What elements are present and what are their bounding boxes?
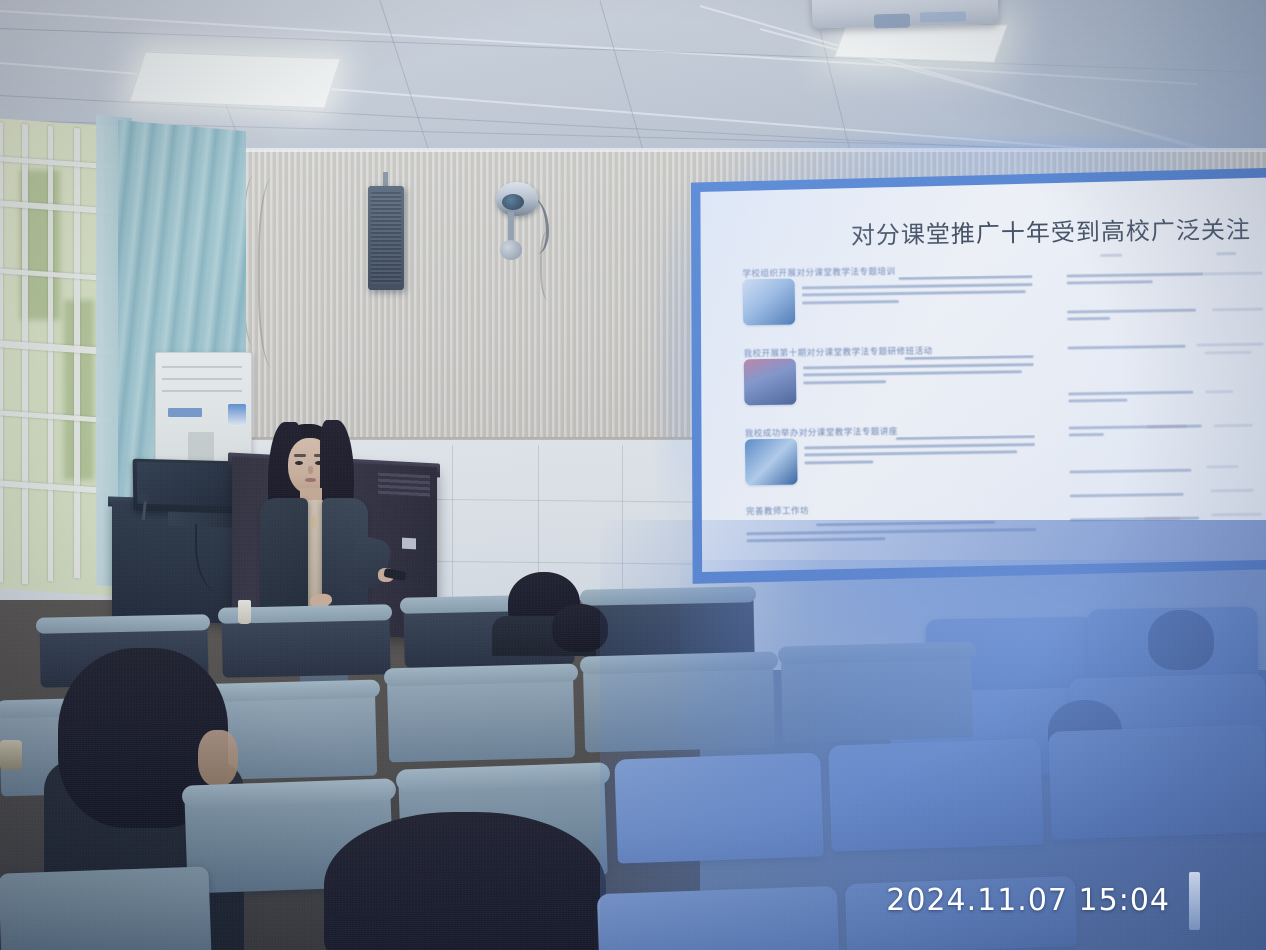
speaker-grille-icon	[371, 192, 401, 284]
camera-timestamp: 2024.11.07 15:04	[886, 883, 1170, 918]
ac-louver	[162, 378, 242, 380]
presenter-eye	[295, 461, 303, 465]
camera-mount-joint	[500, 240, 522, 260]
chair-post	[1189, 872, 1200, 930]
ceiling-led-panel	[129, 52, 341, 109]
seat-row-front[interactable]	[0, 866, 212, 950]
presenter-mouth	[305, 478, 316, 482]
presenter-brow	[294, 454, 306, 457]
thermos-cup	[0, 740, 22, 770]
slide-list-item	[1067, 308, 1263, 314]
slide-surface: 对分课堂推广十年受到高校广泛关注 学校组织开展对分课堂教学法专题培训 我校开展第…	[697, 176, 1266, 576]
slide-news-item: 我校成功举办对分课堂教学法专题讲座	[745, 423, 1036, 485]
presenter-nose	[308, 466, 313, 474]
slide-title: 对分课堂推广十年受到高校广泛关注	[851, 210, 1251, 251]
slide-list-header	[1066, 252, 1252, 258]
camera-lens-icon	[502, 194, 524, 210]
photo-canvas: 对分课堂推广十年受到高校广泛关注 学校组织开展对分课堂教学法专题培训 我校开展第…	[0, 0, 1266, 950]
slide-news-body	[803, 355, 1034, 388]
desk-microphone[interactable]	[138, 493, 149, 502]
window-mullion	[48, 126, 53, 581]
slide-news-thumbnail	[745, 439, 798, 486]
tile-grout-line	[452, 445, 453, 615]
window-mullion	[0, 122, 3, 582]
slide-list-item	[1068, 390, 1264, 396]
paper-cup	[238, 600, 251, 624]
seat-row-front[interactable]	[828, 738, 1044, 851]
projector-vent	[920, 11, 966, 22]
tile-grout-line	[622, 445, 623, 605]
ac-brand-logo	[168, 408, 202, 417]
projector-lens-icon	[874, 14, 910, 29]
slide-list-item	[1069, 468, 1265, 471]
seat-row-front[interactable]	[597, 886, 839, 950]
slide-news-headline: 完善教师工作坊	[746, 501, 1036, 517]
slide-news-item: 学校组织开展对分课堂教学法专题培训	[742, 263, 1033, 325]
slide-news-body	[804, 435, 1035, 468]
slide-news-body	[802, 275, 1033, 308]
projection-screen[interactable]: 对分课堂推广十年受到高校广泛关注 学校组织开展对分课堂教学法专题培训 我校开展第…	[697, 176, 1266, 576]
seat-row-front[interactable]	[1048, 724, 1266, 839]
slide-list-item	[1070, 492, 1266, 495]
seat-row-front[interactable]	[614, 752, 824, 863]
ac-louver	[162, 390, 242, 392]
audience-head	[324, 812, 606, 950]
slide-news-item: 完善教师工作坊	[746, 501, 1037, 547]
presenter-necklace	[312, 516, 316, 528]
window-mullion	[74, 128, 80, 578]
slide-news-item: 我校开展第十期对分课堂教学法专题研修班活动	[744, 343, 1035, 405]
audience-head	[552, 604, 608, 652]
ac-louver	[162, 366, 242, 368]
slide-news-body	[746, 520, 1036, 547]
audience-head	[1148, 610, 1214, 670]
slide-list-item	[1070, 516, 1266, 519]
slide-list-item	[1068, 344, 1264, 357]
slide-list-item	[1067, 272, 1263, 278]
audience-face	[198, 730, 238, 786]
slide-list-item	[1069, 426, 1265, 430]
monitor-screen	[137, 462, 234, 507]
wall-cable	[242, 176, 270, 346]
slide-news-thumbnail	[743, 279, 796, 326]
window-mullion	[22, 124, 28, 584]
slide-news-thumbnail	[744, 359, 797, 406]
ac-energy-label	[228, 404, 246, 426]
